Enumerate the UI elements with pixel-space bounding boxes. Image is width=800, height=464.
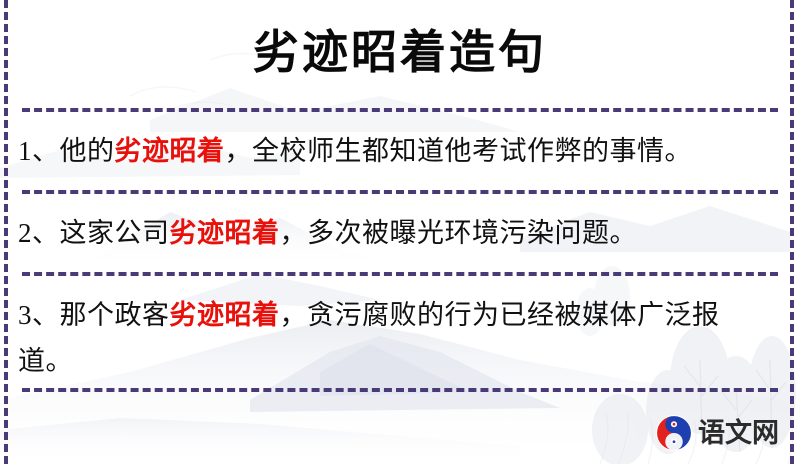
sentence-number-2: 2、	[18, 218, 60, 248]
separator-1	[22, 108, 778, 112]
sentence-number-3: 3、	[18, 300, 60, 330]
idiom-highlight-2: 劣迹昭着	[170, 218, 280, 248]
page-border-left	[4, 0, 8, 464]
sentence-before-2: 这家公司	[60, 218, 170, 248]
sentence-before-1: 他的	[60, 136, 115, 166]
sentence-after-1: ，全校师生都知道他考试作弊的事情。	[225, 136, 693, 166]
yinyang-fish-icon	[655, 414, 693, 452]
separator-2	[22, 190, 778, 194]
idiom-highlight-3: 劣迹昭着	[170, 300, 280, 330]
page-root: 劣迹昭着造句 1、他的劣迹昭着，全校师生都知道他考试作弊的事情。 2、这家公司劣…	[0, 0, 800, 464]
site-watermark-logo[interactable]: 语文网	[655, 414, 779, 452]
page-title: 劣迹昭着造句	[0, 22, 800, 84]
site-watermark-label: 语文网	[698, 418, 779, 448]
separator-4	[22, 388, 778, 392]
idiom-highlight-1: 劣迹昭着	[115, 136, 225, 166]
sentence-item-2: 2、这家公司劣迹昭着，多次被曝光环境污染问题。	[18, 210, 774, 256]
sentence-number-1: 1、	[18, 136, 60, 166]
sentence-before-3: 那个政客	[60, 300, 170, 330]
sentence-after-2: ，多次被曝光环境污染问题。	[280, 218, 638, 248]
page-border-right	[790, 0, 794, 464]
sentence-item-3: 3、那个政客劣迹昭着，贪污腐败的行为已经被媒体广泛报道。	[18, 292, 774, 384]
separator-3	[22, 272, 778, 276]
sentence-item-1: 1、他的劣迹昭着，全校师生都知道他考试作弊的事情。	[18, 128, 774, 174]
